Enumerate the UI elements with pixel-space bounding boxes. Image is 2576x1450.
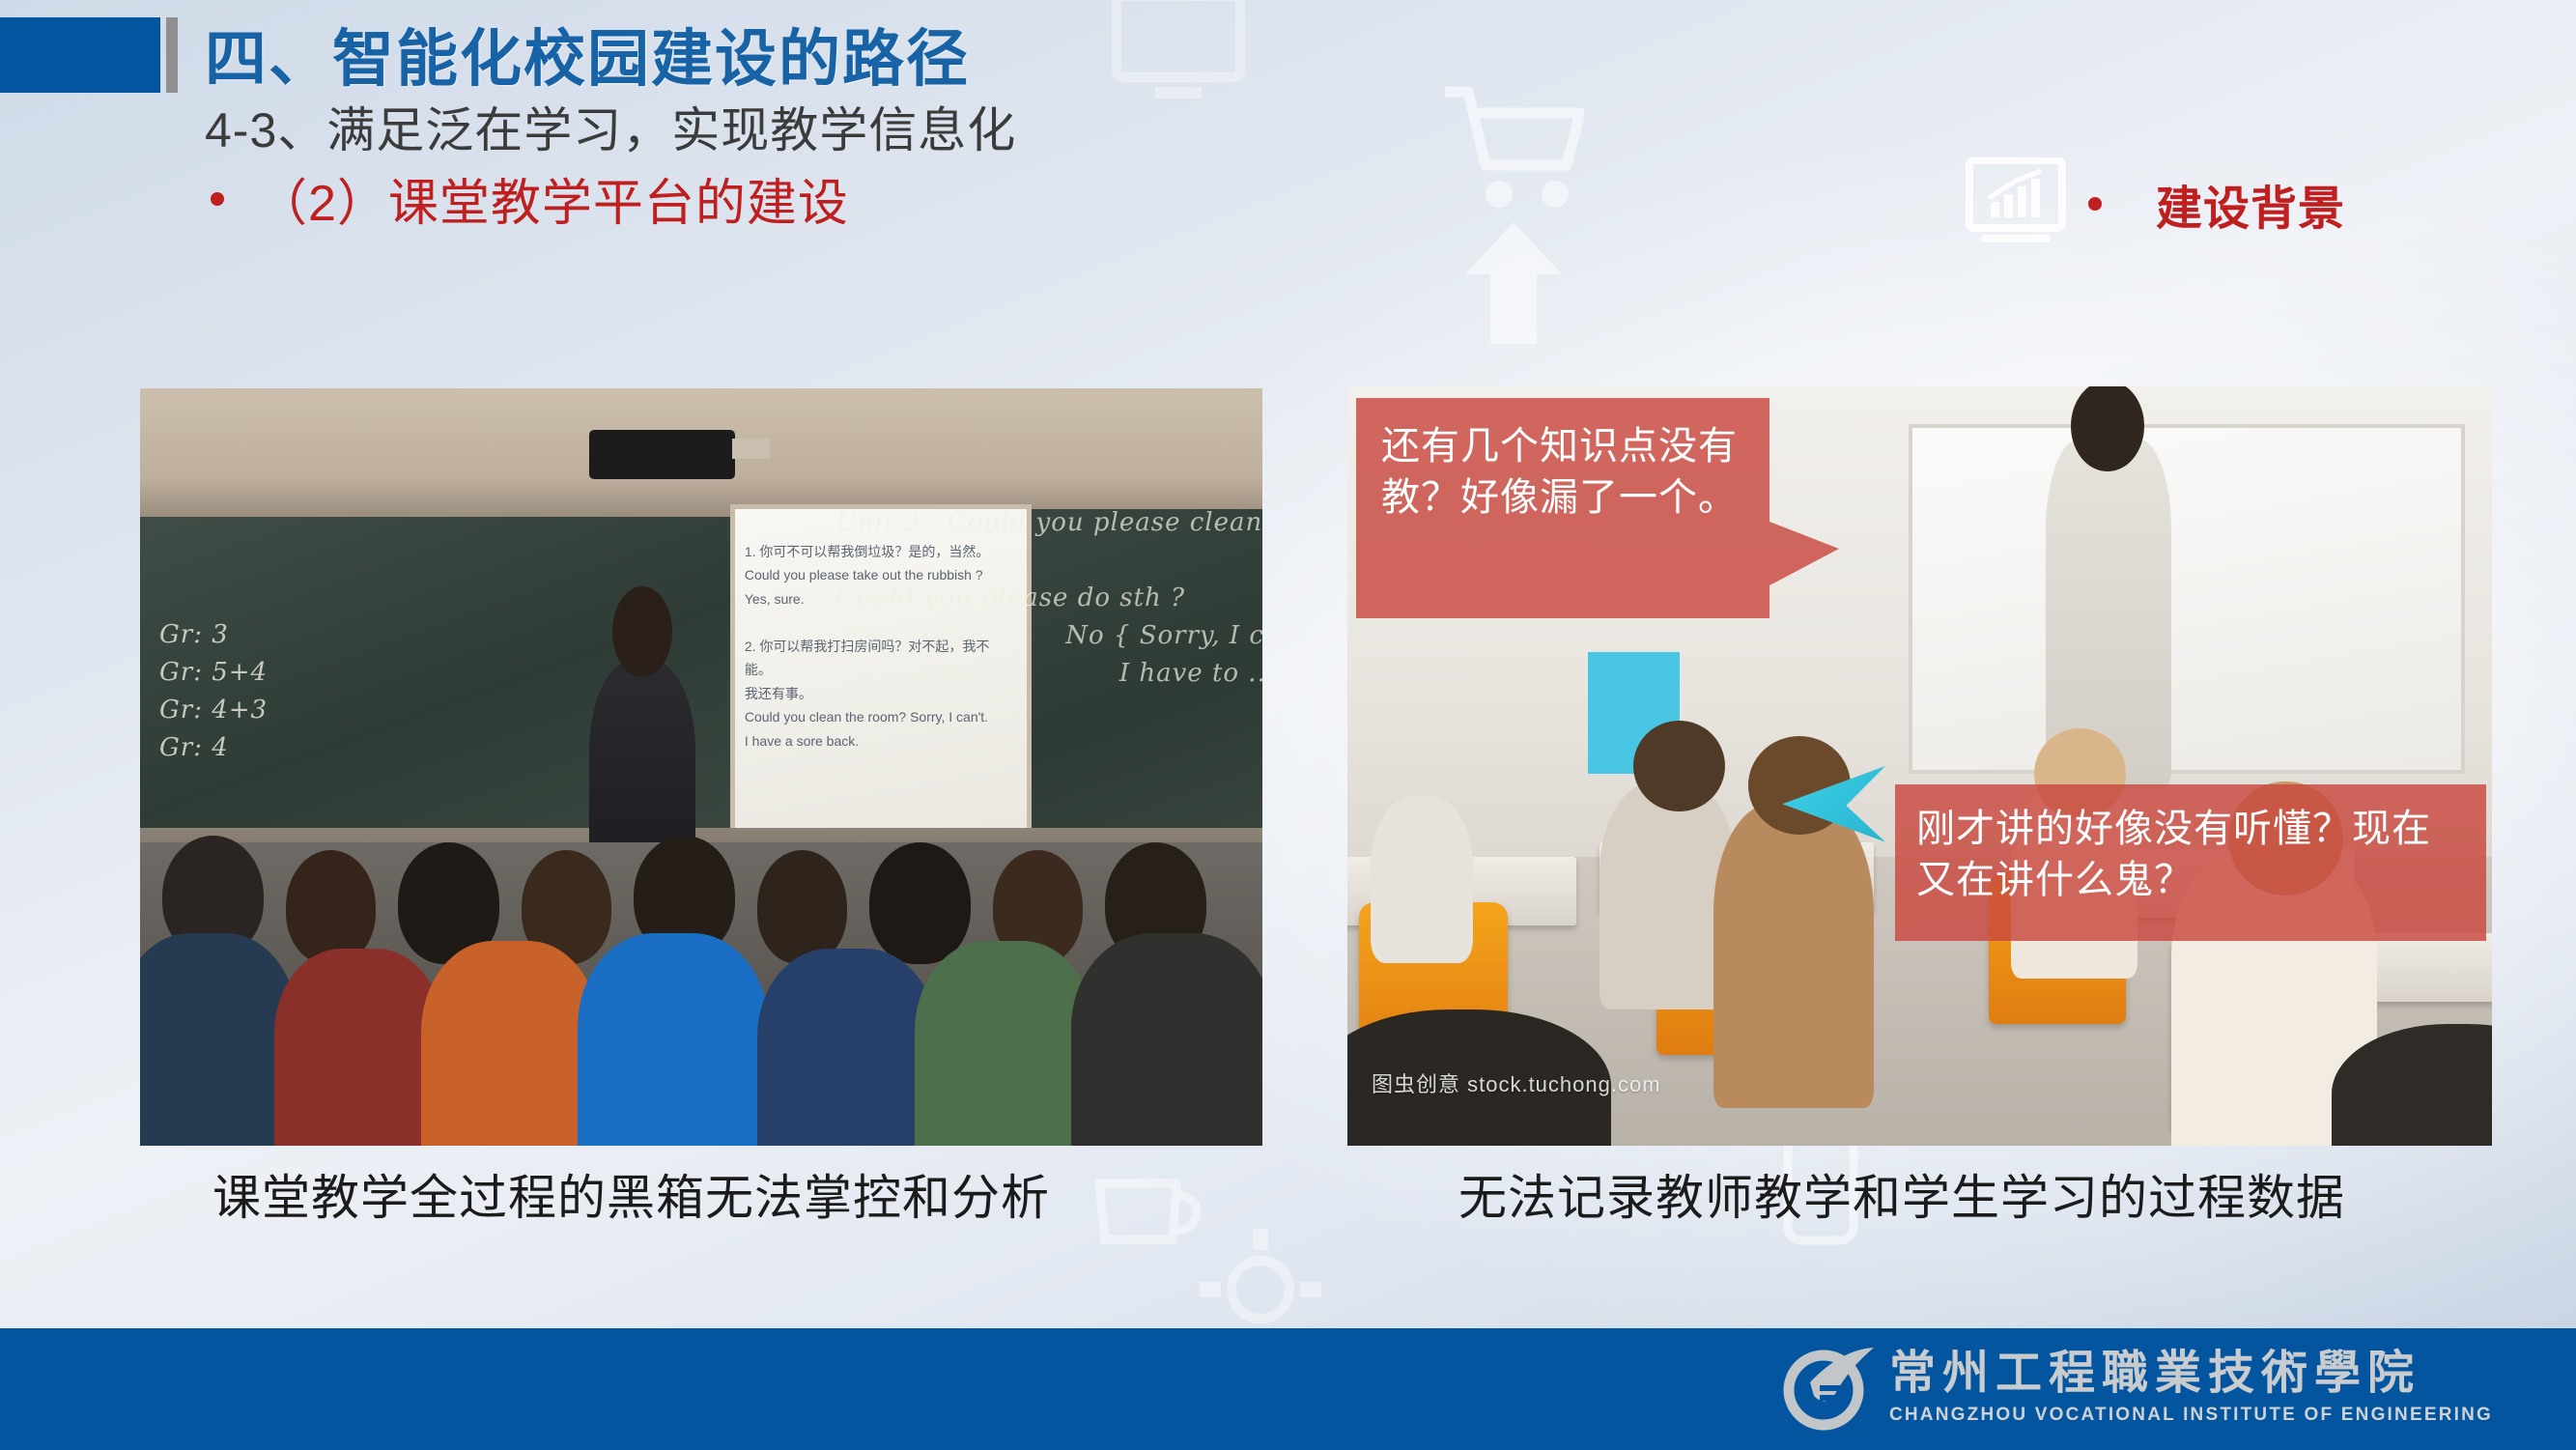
slide-subtitle: 4-3、满足泛在学习，实现教学信息化 (205, 92, 1016, 161)
title-accent-bar (166, 17, 178, 93)
bullet-dot-icon (2088, 197, 2102, 211)
student-jacket (757, 949, 937, 1146)
student-head (1633, 721, 1725, 811)
bubble-tail (1769, 522, 1839, 585)
up-arrow-icon (1463, 220, 1564, 346)
shopping-cart-icon (1439, 82, 1584, 217)
monitor-outline-icon (1111, 0, 1246, 106)
side-board-text: Gr: 3 Gr: 5+4 Gr: 4+3 Gr: 4 (159, 616, 268, 767)
student-jacket (140, 933, 297, 1146)
caption-right: 无法记录教师教学和学生学习的过程数据 (1458, 1159, 2345, 1229)
caption-left: 课堂教学全过程的黑箱无法掌控和分析 (212, 1159, 1050, 1229)
student-jacket (915, 941, 1094, 1146)
student-figure (1371, 796, 1474, 963)
page-title: 四、智能化校园建设的路径 (205, 10, 970, 99)
bullet-platform-label: （2）课堂教学平台的建设 (257, 162, 849, 235)
slide: 四、智能化校园建设的路径 4-3、满足泛在学习，实现教学信息化 （2）课堂教学平… (0, 0, 2576, 1450)
coffee-cup-icon (1091, 1164, 1207, 1261)
institution-name-cn: 常州工程職業技術學院 (1889, 1349, 2493, 1397)
stock-watermark: 图虫创意 stock.tuchong.com (1372, 1067, 1661, 1098)
teacher-thought-bubble: 还有几个知识点没有教？好像漏了一个。 (1356, 398, 1769, 618)
student-head (757, 850, 847, 964)
bullet-background: 建设背景 (2088, 170, 2345, 238)
student-figure (1713, 804, 1874, 1107)
institution-name: 常州工程職業技術學院 CHANGZHOU VOCATIONAL INSTITUT… (1889, 1349, 2493, 1426)
student-jacket (421, 941, 601, 1146)
monitor-chart-icon (1966, 157, 2066, 246)
institution-logo: 常州工程職業技術學院 CHANGZHOU VOCATIONAL INSTITUT… (1781, 1340, 2493, 1435)
footer-bar: 常州工程職業技術學院 CHANGZHOU VOCATIONAL INSTITUT… (0, 1328, 2576, 1450)
student-thought-bubble: 刚才讲的好像没有听懂？现在又在讲什么鬼？ (1895, 784, 2486, 941)
whiteboard (1909, 424, 2466, 774)
bullet-dot-icon (211, 192, 224, 206)
student-jacket (274, 949, 442, 1146)
title-accent-block (0, 17, 160, 93)
teacher-thought-text: 还有几个知识点没有教？好像漏了一个。 (1381, 425, 1738, 519)
student-thought-text: 刚才讲的好像没有听懂？现在又在讲什么鬼？ (1916, 808, 2431, 901)
student-jacket (578, 933, 769, 1146)
screen-text: 1. 你可不可以帮我倒垃圾？是的，当然。 Could you please ta… (735, 532, 1016, 836)
student-jacket (1071, 933, 1262, 1146)
student-head (286, 850, 376, 964)
projector-icon (589, 430, 735, 479)
institution-name-en: CHANGZHOU VOCATIONAL INSTITUTE OF ENGINE… (1889, 1405, 2493, 1426)
bullet-platform: （2）课堂教学平台的建设 (211, 162, 849, 235)
student-head (869, 842, 971, 963)
photo-left-classroom: Gr: 3 Gr: 5+4 Gr: 4+3 Gr: 4 Unit 3 Could… (140, 388, 1262, 1146)
bullet-background-label: 建设背景 (2156, 170, 2345, 238)
changzhou-cvie-logo-icon (1781, 1340, 1876, 1435)
